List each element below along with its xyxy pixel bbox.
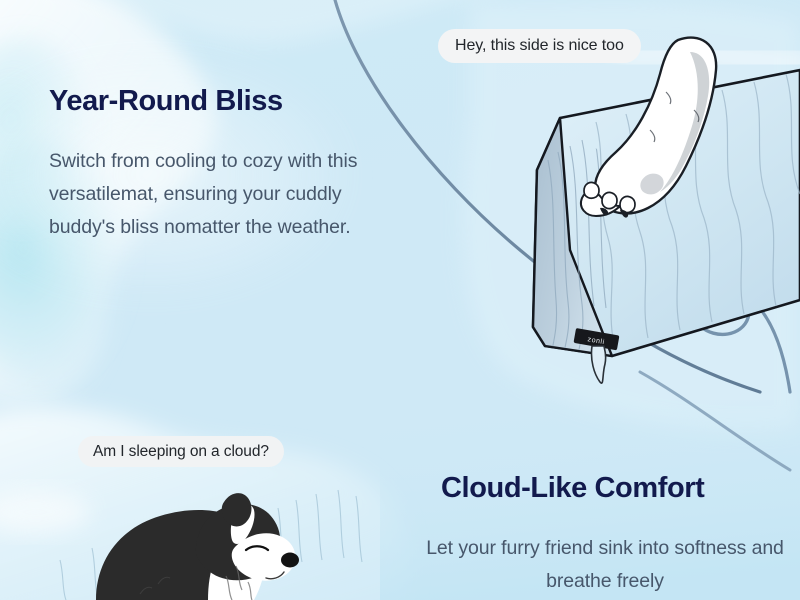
promo-canvas: zonli: [0, 0, 800, 600]
section-cloud-like: Cloud-Like Comfort Let your furry friend…: [419, 472, 791, 598]
year-round-body: Switch from cooling to cozy with this ve…: [49, 145, 394, 244]
section-year-round: Year-Round Bliss Switch from cooling to …: [49, 85, 409, 244]
year-round-headline: Year-Round Bliss: [49, 85, 409, 118]
speech-bubble-paw: Hey, this side is nice too: [438, 29, 641, 63]
cloud-like-body: Let your furry friend sink into softness…: [419, 532, 791, 598]
cloud-streak-right: [620, 53, 800, 62]
speech-bubble-dog: Am I sleeping on a cloud?: [78, 436, 284, 467]
cloud-like-headline: Cloud-Like Comfort: [441, 472, 791, 505]
